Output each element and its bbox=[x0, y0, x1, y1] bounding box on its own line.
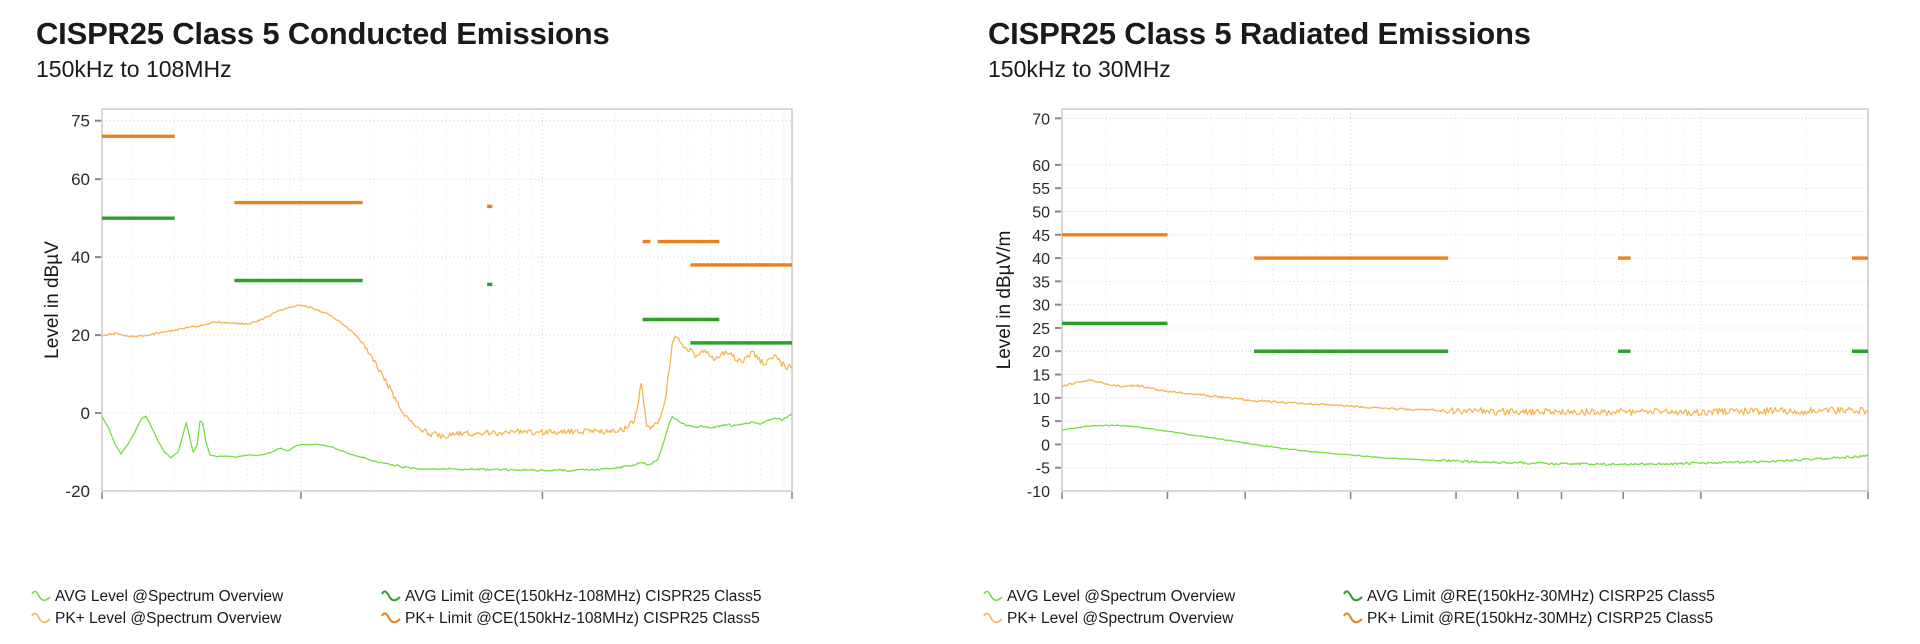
avg-level-swatch-icon bbox=[30, 590, 52, 603]
legend-item[interactable]: AVG Level @Spectrum Overview bbox=[30, 587, 380, 606]
legend-label: AVG Limit @RE(150kHz-30MHz) CISRP25 Clas… bbox=[1367, 587, 1715, 606]
y-tick-label: 5 bbox=[1041, 414, 1050, 431]
y-tick-label: 55 bbox=[1032, 181, 1050, 198]
avg-level-swatch-icon bbox=[982, 590, 1004, 603]
legend-item[interactable]: AVG Limit @CE(150kHz-108MHz) CISPR25 Cla… bbox=[380, 587, 820, 606]
panel-conducted: CISPR25 Class 5 Conducted Emissions 150k… bbox=[0, 0, 960, 644]
pk-limit-swatch-icon bbox=[380, 612, 402, 625]
y-tick-label: -5 bbox=[1036, 461, 1050, 478]
legend-conducted-right: AVG Limit @CE(150kHz-108MHz) CISPR25 Cla… bbox=[380, 587, 820, 628]
page-title-conducted: CISPR25 Class 5 Conducted Emissions bbox=[36, 0, 960, 52]
chart-radiated: 70605550454035302520151050-5-10Level in … bbox=[988, 99, 1920, 499]
y-axis-title: Level in dBµV bbox=[42, 241, 63, 359]
y-tick-label: 60 bbox=[71, 170, 90, 189]
legend-item[interactable]: PK+ Limit @CE(150kHz-108MHz) CISPR25 Cla… bbox=[380, 609, 820, 628]
legend-radiated-right: AVG Limit @RE(150kHz-30MHz) CISRP25 Clas… bbox=[1342, 587, 1772, 628]
y-tick-label: 60 bbox=[1032, 158, 1050, 175]
legend-item[interactable]: AVG Limit @RE(150kHz-30MHz) CISRP25 Clas… bbox=[1342, 587, 1772, 606]
chart-conducted: 756040200-20Level in dBµV150 k1 M10 M108… bbox=[36, 99, 960, 499]
y-tick-label: 20 bbox=[71, 326, 90, 345]
y-tick-label: -20 bbox=[65, 482, 90, 499]
avg-limit-swatch-icon bbox=[1342, 590, 1364, 603]
series-3 bbox=[102, 415, 792, 472]
legend-item[interactable]: PK+ Level @Spectrum Overview bbox=[30, 609, 380, 628]
panel-radiated: CISPR25 Class 5 Radiated Emissions 150kH… bbox=[960, 0, 1920, 644]
y-tick-label: 0 bbox=[81, 404, 90, 423]
legend-item[interactable]: PK+ Limit @RE(150kHz-30MHz) CISRP25 Clas… bbox=[1342, 609, 1772, 628]
pk-limit-swatch-icon bbox=[1342, 612, 1364, 625]
y-tick-label: 50 bbox=[1032, 205, 1050, 222]
legend-label: AVG Level @Spectrum Overview bbox=[55, 587, 283, 606]
legend-label: AVG Limit @CE(150kHz-108MHz) CISPR25 Cla… bbox=[405, 587, 762, 606]
series-2 bbox=[102, 305, 792, 439]
legend-conducted-left: AVG Level @Spectrum Overview PK+ Level @… bbox=[0, 587, 380, 628]
legend-item[interactable]: AVG Level @Spectrum Overview bbox=[982, 587, 1342, 606]
pk-level-swatch-icon bbox=[982, 612, 1004, 625]
chart-conducted-svg: 756040200-20Level in dBµV150 k1 M10 M108… bbox=[36, 99, 836, 499]
y-tick-label: -10 bbox=[1027, 484, 1050, 499]
legend-label: PK+ Level @Spectrum Overview bbox=[55, 609, 281, 628]
y-tick-label: 40 bbox=[1032, 251, 1050, 268]
y-tick-label: 75 bbox=[71, 112, 90, 131]
page-subtitle-radiated: 150kHz to 30MHz bbox=[988, 52, 1920, 84]
y-tick-label: 45 bbox=[1032, 228, 1050, 245]
emissions-report: CISPR25 Class 5 Conducted Emissions 150k… bbox=[0, 0, 1920, 644]
legend-label: PK+ Limit @CE(150kHz-108MHz) CISPR25 Cla… bbox=[405, 609, 760, 628]
y-tick-label: 70 bbox=[1032, 112, 1050, 129]
y-tick-label: 0 bbox=[1041, 438, 1050, 455]
avg-limit-swatch-icon bbox=[380, 590, 402, 603]
y-tick-label: 30 bbox=[1032, 298, 1050, 315]
legend-label: AVG Level @Spectrum Overview bbox=[1007, 587, 1235, 606]
chart-radiated-svg: 70605550454035302520151050-5-10Level in … bbox=[988, 99, 1888, 499]
y-tick-label: 10 bbox=[1032, 391, 1050, 408]
legend-label: PK+ Level @Spectrum Overview bbox=[1007, 609, 1233, 628]
page-title-radiated: CISPR25 Class 5 Radiated Emissions bbox=[988, 0, 1920, 52]
legend-radiated-left: AVG Level @Spectrum Overview PK+ Level @… bbox=[960, 587, 1342, 628]
legend-item[interactable]: PK+ Level @Spectrum Overview bbox=[982, 609, 1342, 628]
y-tick-label: 35 bbox=[1032, 275, 1050, 292]
legend-radiated: AVG Level @Spectrum Overview PK+ Level @… bbox=[960, 587, 1920, 628]
page-subtitle-conducted: 150kHz to 108MHz bbox=[36, 52, 960, 84]
pk-level-swatch-icon bbox=[30, 612, 52, 625]
legend-label: PK+ Limit @RE(150kHz-30MHz) CISRP25 Clas… bbox=[1367, 609, 1713, 628]
y-tick-label: 15 bbox=[1032, 368, 1050, 385]
series-3 bbox=[1062, 425, 1868, 465]
legend-conducted: AVG Level @Spectrum Overview PK+ Level @… bbox=[0, 587, 960, 628]
y-tick-label: 25 bbox=[1032, 321, 1050, 338]
y-tick-label: 40 bbox=[71, 248, 90, 267]
y-axis-title: Level in dBµV/m bbox=[994, 231, 1015, 370]
y-tick-label: 20 bbox=[1032, 344, 1050, 361]
